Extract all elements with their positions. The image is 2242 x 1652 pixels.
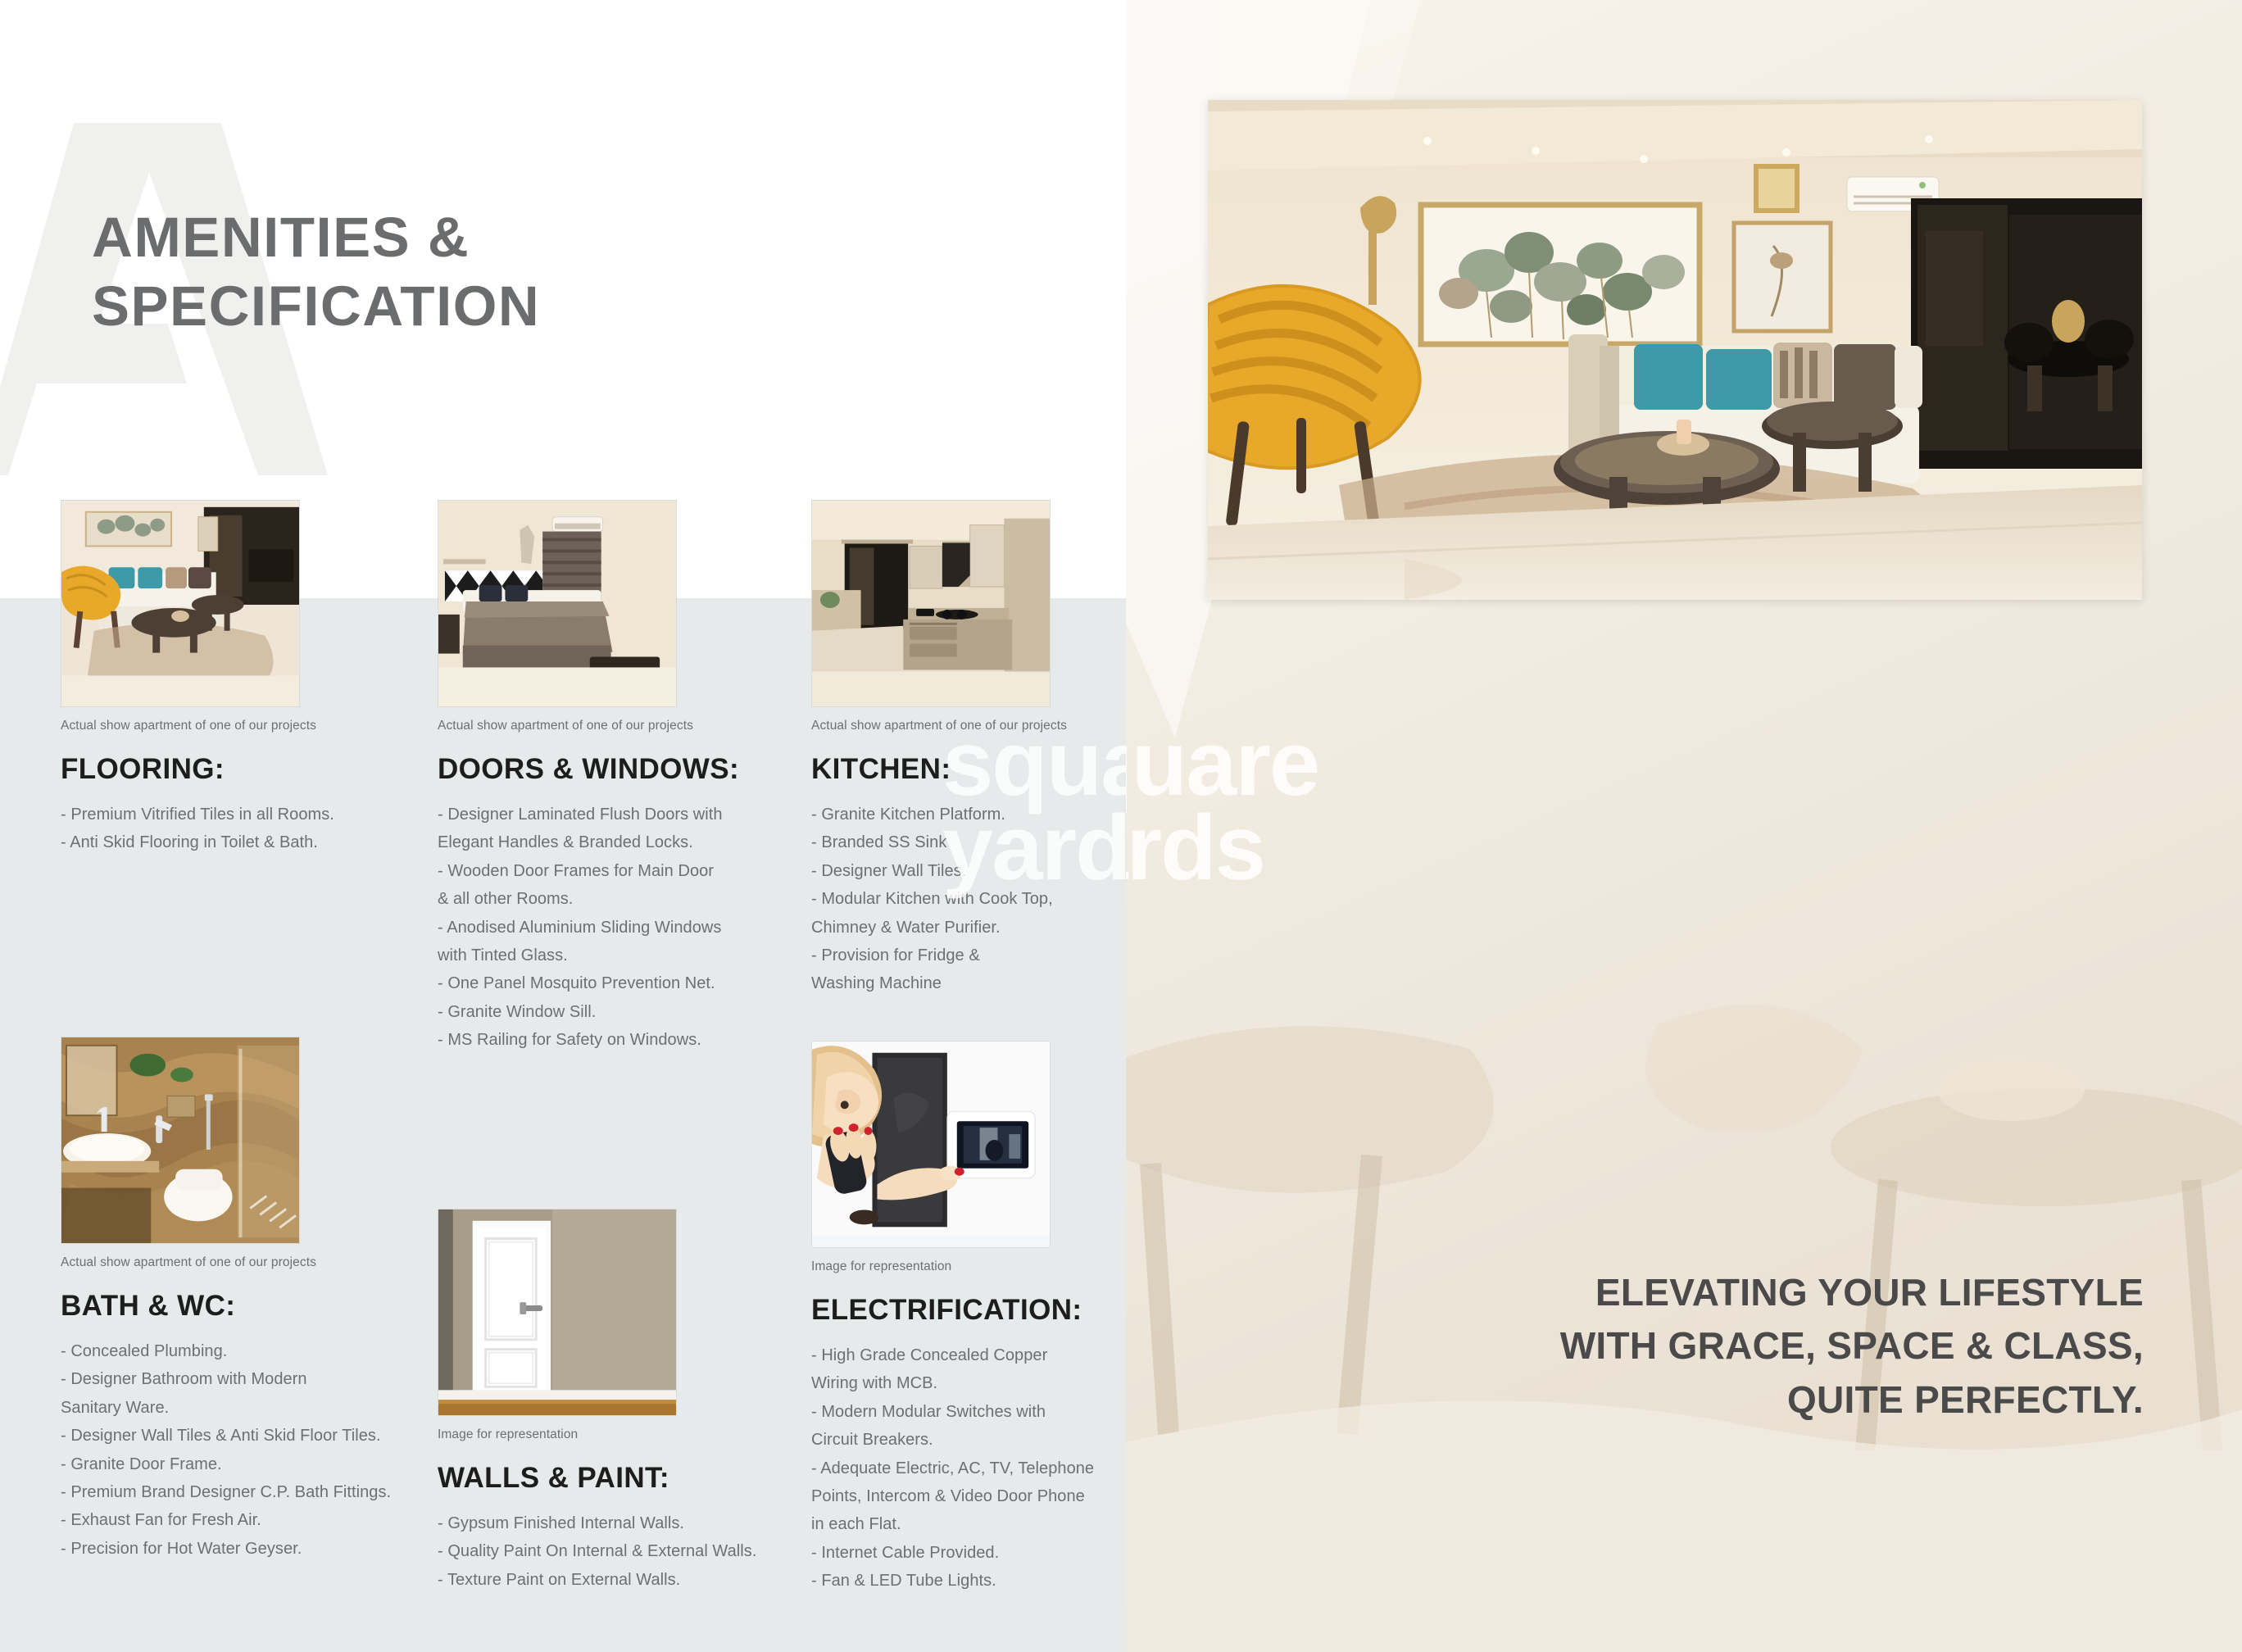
bullet-item: - Designer Wall Tiles. <box>811 857 1126 885</box>
bullet-item: - Adequate Electric, AC, TV, Telephone P… <box>811 1455 1126 1539</box>
white-door-photo <box>438 1209 677 1416</box>
kitchen-photo <box>811 500 1051 707</box>
section-title-kitchen: KITCHEN: <box>811 753 1126 786</box>
image-caption: Image for representation <box>811 1259 1126 1274</box>
bullet-item: - High Grade Concealed Copper Wiring wit… <box>811 1341 1126 1398</box>
bullet-item: - Wooden Door Frames for Main Door & all… <box>438 857 782 914</box>
spec-column-flooring: Actual show apartment of one of our proj… <box>61 500 405 857</box>
bullet-list-walls-paint: - Gypsum Finished Internal Walls. - Qual… <box>438 1509 782 1594</box>
bullet-item: - Premium Brand Designer C.P. Bath Fitti… <box>61 1478 405 1506</box>
bullet-item: - Quality Paint On Internal & External W… <box>438 1537 782 1565</box>
bullet-item: - Texture Paint on External Walls. <box>438 1566 782 1594</box>
image-caption: Image for representation <box>438 1427 782 1442</box>
bullet-item: - Modern Modular Switches with Circuit B… <box>811 1398 1126 1455</box>
bullet-item: - Granite Door Frame. <box>61 1450 405 1478</box>
bedroom-photo <box>438 500 677 707</box>
bathroom-photo <box>61 1037 300 1244</box>
bullet-item: - Internet Cable Provided. <box>811 1539 1126 1567</box>
brochure-page: AMENITIES & SPECIFICATION <box>0 0 2242 1652</box>
spec-column-electrification: Image for representation ELECTRIFICATION… <box>811 1041 1126 1595</box>
bullet-item: - Precision for Hot Water Geyser. <box>61 1535 405 1563</box>
bullet-item: - Gypsum Finished Internal Walls. <box>438 1509 782 1537</box>
bullet-list-doors-windows: - Designer Laminated Flush Doors with El… <box>438 801 782 1055</box>
bullet-item: - Anodised Aluminium Sliding Windows wit… <box>438 914 782 970</box>
left-panel: AMENITIES & SPECIFICATION <box>0 0 1126 1652</box>
bullet-item: - Granite Window Sill. <box>438 998 782 1026</box>
tagline-text: ELEVATING YOUR LIFESTYLE WITH GRACE, SPA… <box>1406 1266 2144 1427</box>
bullet-item: - Granite Kitchen Platform. <box>811 801 1126 828</box>
section-title-flooring: FLOORING: <box>61 753 405 786</box>
bullet-list-electrification: - High Grade Concealed Copper Wiring wit… <box>811 1341 1126 1595</box>
bullet-item: - Branded SS Sink <box>811 828 1126 856</box>
living-room-photo <box>61 500 300 707</box>
section-title-walls-paint: WALLS & PAINT: <box>438 1462 782 1495</box>
bullet-item: - Provision for Fridge & Washing Machine <box>811 942 1126 998</box>
bullet-item: - Modular Kitchen with Cook Top, Chimney… <box>811 885 1126 942</box>
bullet-item: - Designer Laminated Flush Doors with El… <box>438 801 782 857</box>
page-title: AMENITIES & SPECIFICATION <box>92 203 540 341</box>
spec-column-walls-paint: Image for representation WALLS & PAINT: … <box>438 1209 782 1594</box>
right-panel: square yards ELEVATING YOUR LIFESTYLE WI… <box>1126 0 2242 1652</box>
section-title-doors-windows: DOORS & WINDOWS: <box>438 753 782 786</box>
image-caption: Actual show apartment of one of our proj… <box>811 719 1126 733</box>
bullet-item: - Premium Vitrified Tiles in all Rooms. <box>61 801 405 828</box>
bullet-item: - Fan & LED Tube Lights. <box>811 1567 1126 1595</box>
bullet-item: - Designer Bathroom with Modern Sanitary… <box>61 1365 405 1422</box>
image-caption: Actual show apartment of one of our proj… <box>438 719 782 733</box>
section-title-bath-wc: BATH & WC: <box>61 1290 405 1323</box>
hero-living-room-photo <box>1208 100 2142 600</box>
spec-column-bath-wc: Actual show apartment of one of our proj… <box>61 1037 405 1563</box>
bullet-list-bath-wc: - Concealed Plumbing. - Designer Bathroo… <box>61 1337 405 1563</box>
image-caption: Actual show apartment of one of our proj… <box>61 719 405 733</box>
image-caption: Actual show apartment of one of our proj… <box>61 1255 405 1270</box>
bullet-item: - One Panel Mosquito Prevention Net. <box>438 969 782 997</box>
spec-column-kitchen: Actual show apartment of one of our proj… <box>811 500 1126 998</box>
video-door-phone-photo <box>811 1041 1051 1248</box>
bullet-item: - Exhaust Fan for Fresh Air. <box>61 1506 405 1534</box>
bullet-item: - Designer Wall Tiles & Anti Skid Floor … <box>61 1422 405 1450</box>
bullet-item: - MS Railing for Safety on Windows. <box>438 1026 782 1054</box>
bullet-item: - Anti Skid Flooring in Toilet & Bath. <box>61 828 405 856</box>
bullet-list-kitchen: - Granite Kitchen Platform. - Branded SS… <box>811 801 1126 998</box>
bullet-list-flooring: - Premium Vitrified Tiles in all Rooms. … <box>61 801 405 857</box>
spec-column-doors-windows: Actual show apartment of one of our proj… <box>438 500 782 1055</box>
bullet-item: - Concealed Plumbing. <box>61 1337 405 1365</box>
section-title-electrification: ELECTRIFICATION: <box>811 1294 1126 1327</box>
